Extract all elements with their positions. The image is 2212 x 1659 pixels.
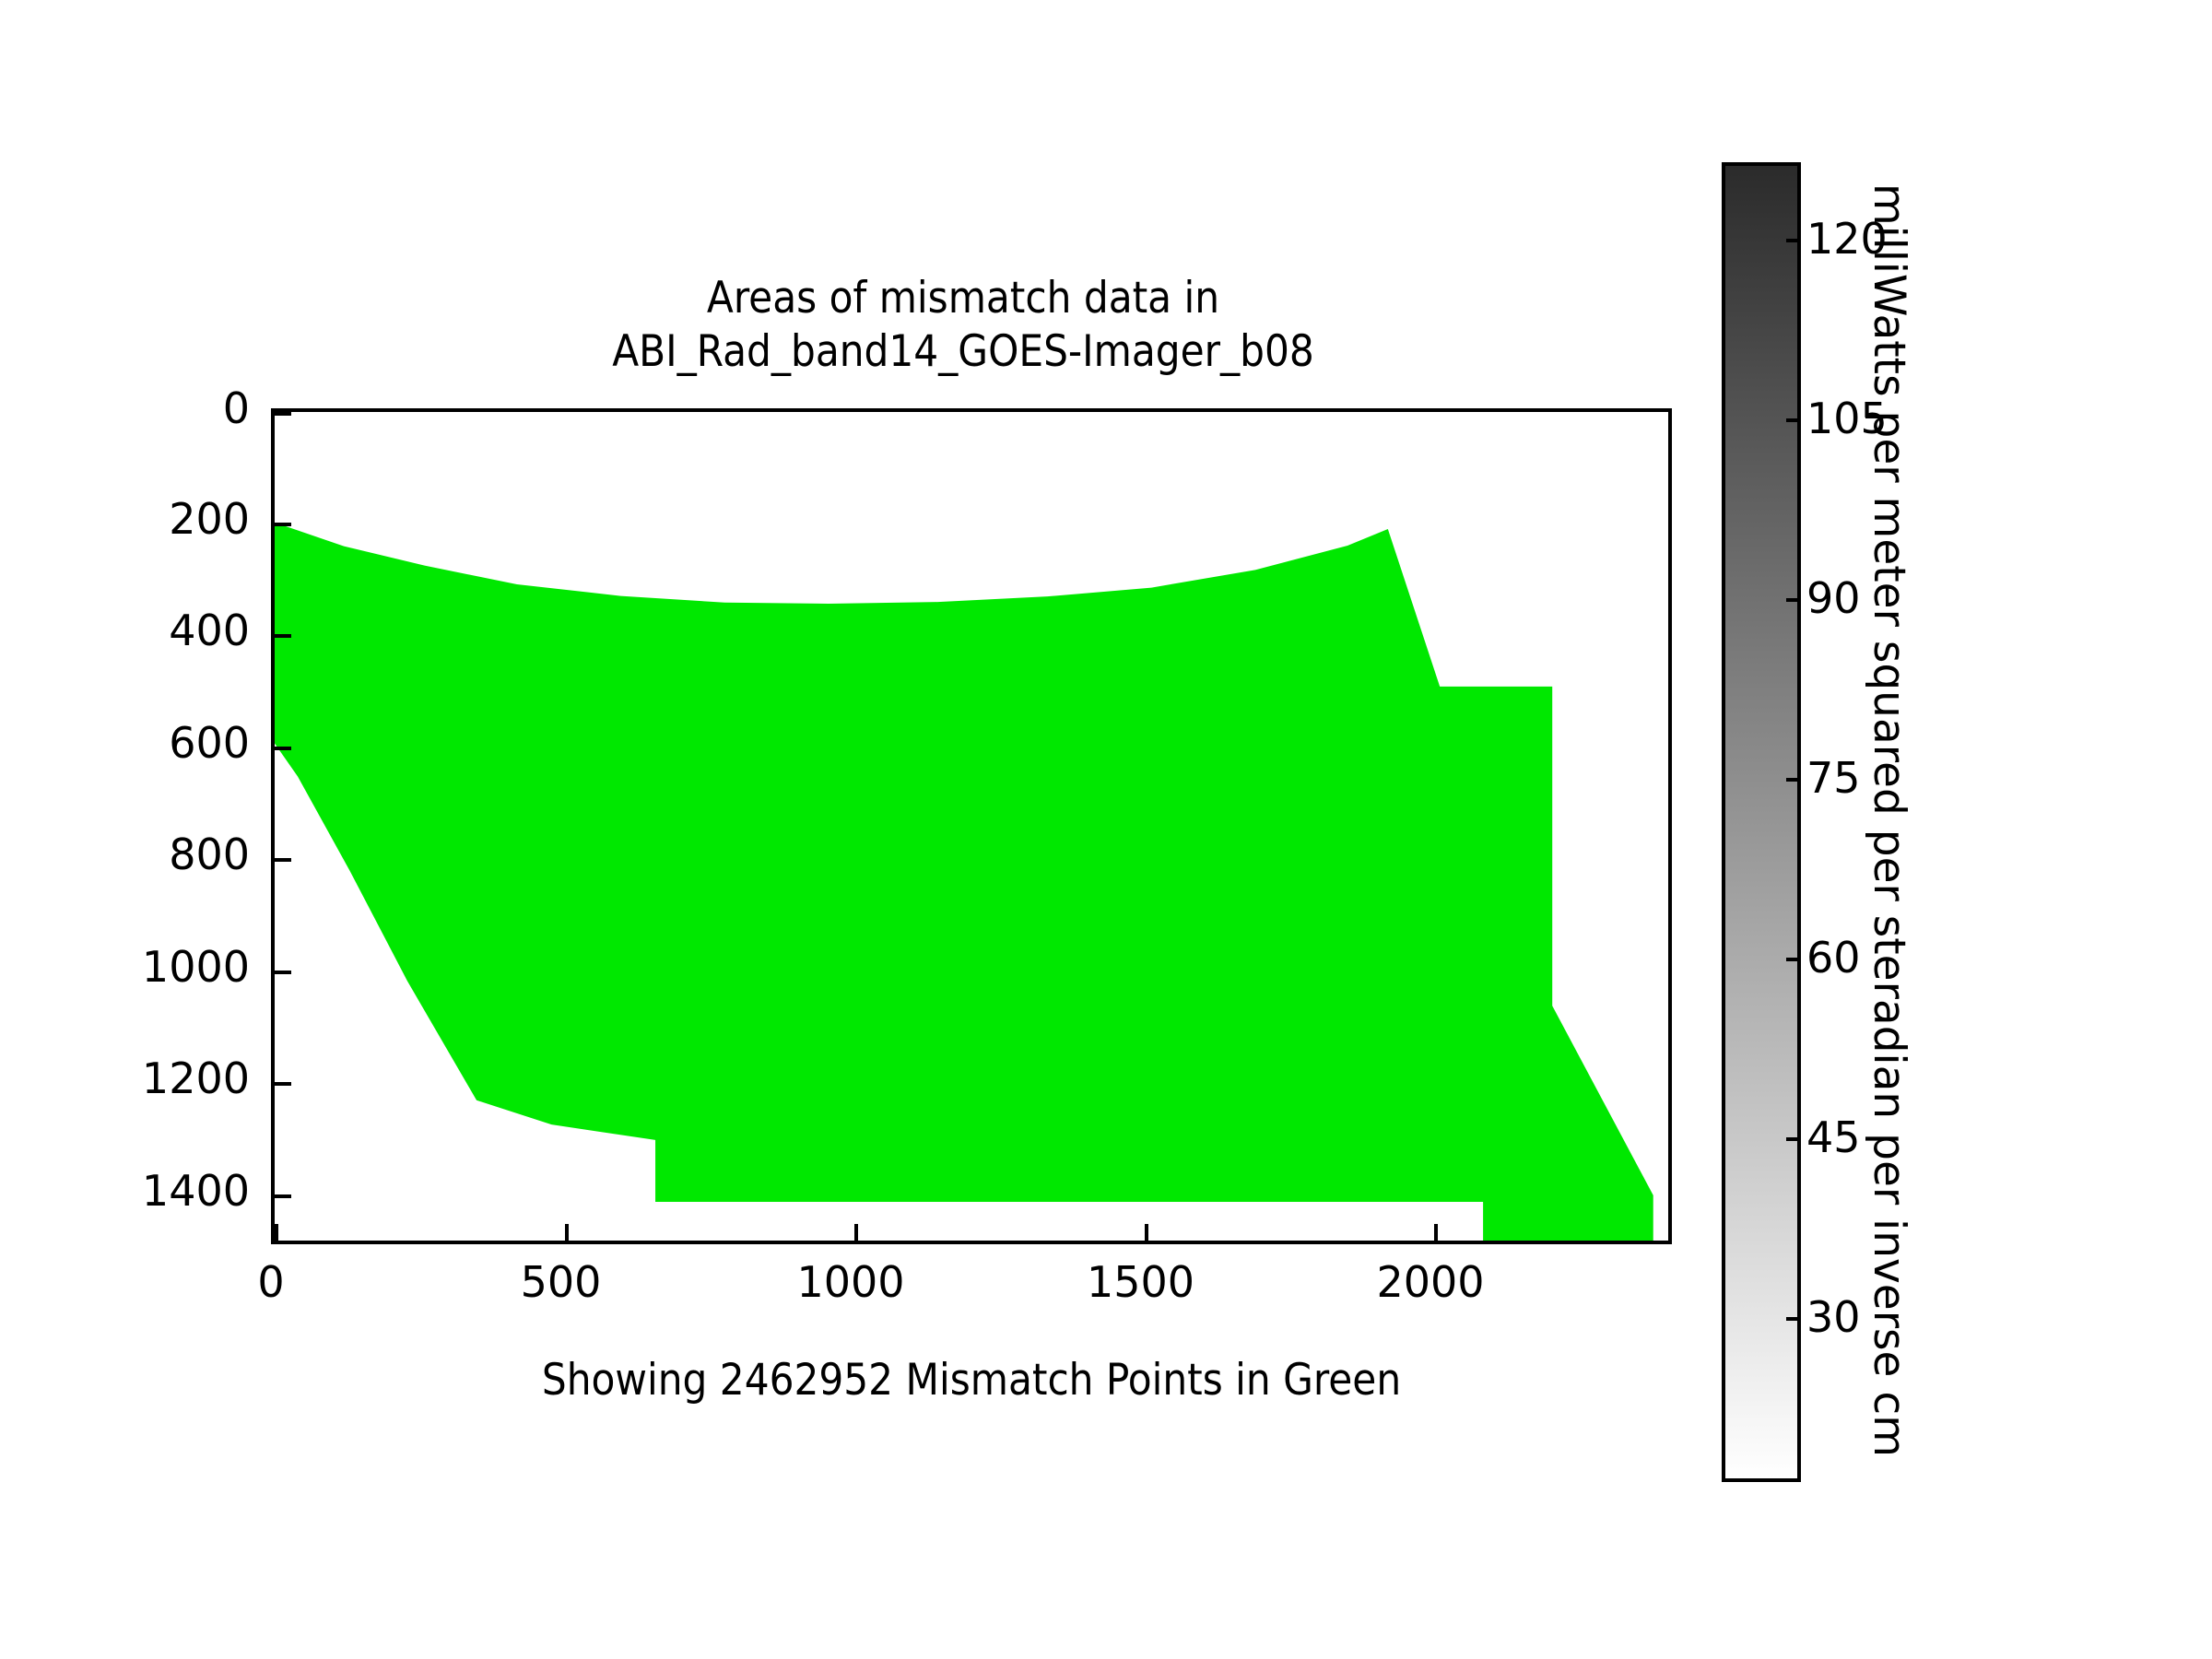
y-tick-label-group: 0 200 400 600 800 1000 1200 1400 bbox=[0, 408, 251, 1244]
colorbar-tick-45 bbox=[1786, 1137, 1801, 1141]
colorbar-tick-label-45: 45 bbox=[1806, 1116, 1861, 1159]
figure-canvas: Areas of mismatch data in ABI_Rad_band14… bbox=[0, 0, 2212, 1659]
y-tick-label-200: 200 bbox=[169, 498, 250, 540]
mismatch-region-svg bbox=[275, 412, 1668, 1241]
y-tick-600 bbox=[275, 747, 291, 750]
y-tick-400 bbox=[275, 634, 291, 638]
x-tick-1500 bbox=[1145, 1224, 1148, 1241]
x-tick-label-500: 500 bbox=[521, 1261, 602, 1303]
x-tick-label-0: 0 bbox=[257, 1261, 284, 1303]
x-tick-label-2000: 2000 bbox=[1376, 1261, 1484, 1303]
colorbar-tick-label-90: 90 bbox=[1806, 577, 1861, 619]
y-tick-800 bbox=[275, 858, 291, 862]
y-tick-label-0: 0 bbox=[223, 387, 250, 429]
y-tick-label-400: 400 bbox=[169, 609, 250, 652]
colorbar-tick-60 bbox=[1786, 958, 1801, 961]
y-tick-1000 bbox=[275, 971, 291, 974]
colorbar-tick-30 bbox=[1786, 1317, 1801, 1321]
colorbar-tick-105 bbox=[1786, 418, 1801, 422]
y-tick-200 bbox=[275, 523, 291, 526]
y-tick-label-1400: 1400 bbox=[142, 1170, 250, 1212]
colorbar-tick-label-30: 30 bbox=[1806, 1296, 1861, 1338]
chart-caption: Showing 2462952 Mismatch Points in Green bbox=[271, 1357, 1672, 1405]
x-tick-1000 bbox=[854, 1224, 858, 1241]
colorbar-tick-label-60: 60 bbox=[1806, 936, 1861, 979]
x-tick-label-1000: 1000 bbox=[796, 1261, 904, 1303]
y-tick-label-1000: 1000 bbox=[142, 946, 250, 988]
colorbar-tick-120 bbox=[1786, 239, 1801, 242]
chart-title: Areas of mismatch data in ABI_Rad_band14… bbox=[272, 272, 1654, 379]
colorbar-tick-75 bbox=[1786, 778, 1801, 782]
y-tick-label-600: 600 bbox=[169, 722, 250, 764]
y-tick-1200 bbox=[275, 1082, 291, 1086]
colorbar-tick-90 bbox=[1786, 598, 1801, 602]
y-tick-1400 bbox=[275, 1194, 291, 1198]
y-tick-label-1200: 1200 bbox=[142, 1057, 250, 1100]
mismatch-region-polygon bbox=[275, 523, 1653, 1241]
y-tick-0 bbox=[275, 412, 291, 416]
colorbar-tick-label-75: 75 bbox=[1806, 757, 1861, 799]
x-tick-500 bbox=[565, 1224, 569, 1241]
plot-axes bbox=[271, 408, 1672, 1244]
x-tick-label-group: 0 500 1000 1500 2000 bbox=[271, 1261, 1672, 1316]
y-tick-label-800: 800 bbox=[169, 833, 250, 876]
x-tick-2000 bbox=[1434, 1224, 1438, 1241]
colorbar-axis-label: milliWatts per meter squared per steradi… bbox=[1860, 157, 1917, 1484]
x-tick-label-1500: 1500 bbox=[1087, 1261, 1194, 1303]
x-tick-0 bbox=[275, 1224, 278, 1241]
colorbar-tick-group bbox=[1722, 162, 1801, 1482]
